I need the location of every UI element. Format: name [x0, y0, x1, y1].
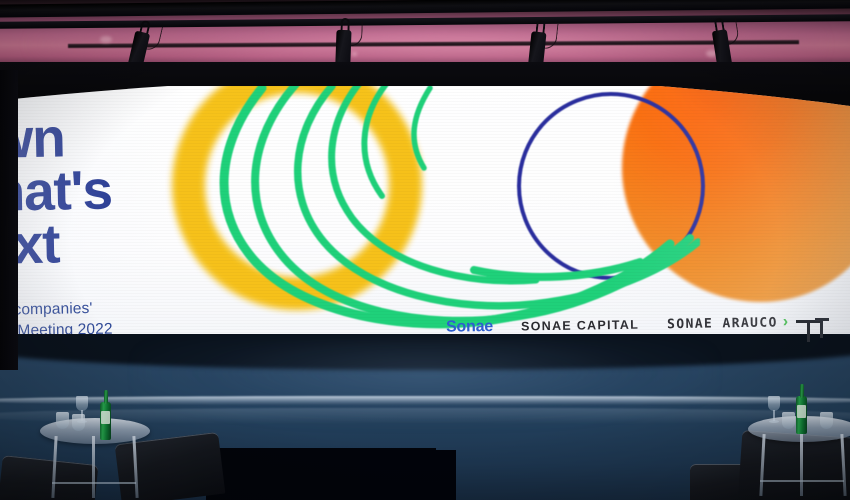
table-cross-bar	[760, 480, 844, 482]
stem-glass-foot	[769, 420, 779, 423]
stand-bar	[820, 318, 823, 338]
table-leg	[759, 434, 765, 496]
drinking-glass	[56, 412, 69, 429]
stand-bar	[807, 320, 810, 342]
stage-photo: Own what's next Sonae companies' Annual …	[0, 0, 850, 500]
drinking-glass	[820, 412, 833, 429]
equipment-stand	[796, 316, 840, 362]
drinking-glass	[72, 414, 85, 431]
stem-glass	[768, 396, 780, 424]
water-bottle	[100, 402, 111, 440]
ceiling-fleck	[100, 36, 112, 43]
table-leg	[132, 436, 138, 498]
led-screen: Own what's next Sonae companies' Annual …	[0, 86, 850, 358]
green-scribble-graphic	[200, 86, 700, 332]
led-screen-content: Own what's next Sonae companies' Annual …	[0, 86, 850, 358]
stem-glass-bowl	[76, 396, 88, 411]
stand-bar	[815, 318, 829, 321]
side-table-left	[40, 390, 150, 498]
table-leg	[800, 434, 803, 496]
drinking-glass	[782, 412, 795, 429]
foreground-block	[360, 450, 456, 500]
side-table-right	[748, 388, 850, 496]
table-leg	[92, 436, 95, 498]
water-bottle	[796, 396, 807, 434]
logo-sonae-capital: SONAE CAPITAL	[521, 318, 639, 334]
table-leg	[840, 434, 846, 496]
stem-glass-bowl	[768, 396, 780, 411]
table-cross-bar	[52, 482, 136, 484]
logo-sonae-arauco: SONAE ARAUCO ›	[667, 314, 788, 332]
logo-sonae-arauco-label: SONAE ARAUCO	[667, 315, 778, 332]
left-wall	[0, 70, 18, 370]
chevron-right-icon: ›	[783, 314, 789, 330]
table-leg	[51, 436, 57, 498]
